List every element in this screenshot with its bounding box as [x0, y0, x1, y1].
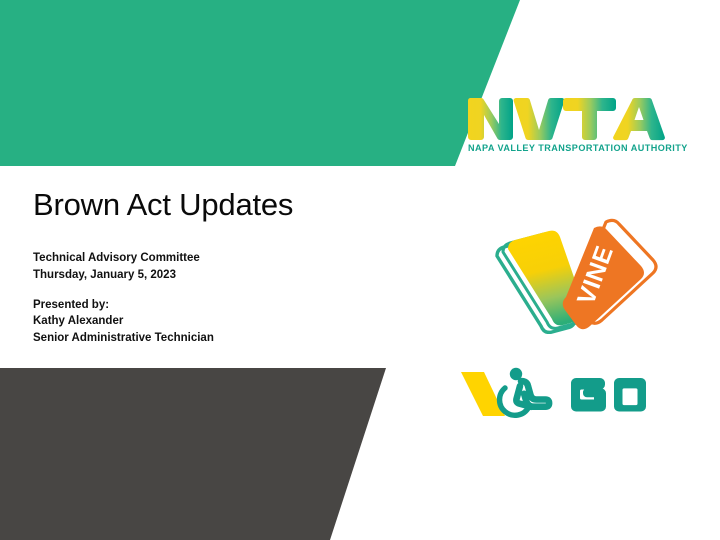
presenter-role: Senior Administrative Technician	[33, 330, 214, 347]
meeting-name: Technical Advisory Committee	[33, 250, 214, 267]
vine-go-wordmark	[571, 378, 646, 412]
vine-go-logo	[458, 364, 648, 422]
dark-footer-shape	[0, 368, 390, 540]
green-banner-shape	[0, 0, 525, 166]
nvta-logo: NAPA VALLEY TRANSPORTATION AUTHORITY	[466, 92, 688, 156]
slide-canvas: NAPA VALLEY TRANSPORTATION AUTHORITY	[0, 0, 720, 540]
nvta-tagline: NAPA VALLEY TRANSPORTATION AUTHORITY	[468, 143, 688, 153]
nvta-wordmark-glyphs	[468, 98, 665, 140]
spacer	[33, 284, 214, 297]
slide-subtitle-block: Technical Advisory Committee Thursday, J…	[33, 250, 214, 347]
page-title: Brown Act Updates	[33, 186, 293, 223]
meeting-date: Thursday, January 5, 2023	[33, 267, 214, 284]
vine-logo: VINE	[490, 216, 670, 334]
presenter-name: Kathy Alexander	[33, 313, 214, 330]
presented-by-label: Presented by:	[33, 297, 214, 314]
wheelchair-accessible-icon	[500, 368, 550, 416]
